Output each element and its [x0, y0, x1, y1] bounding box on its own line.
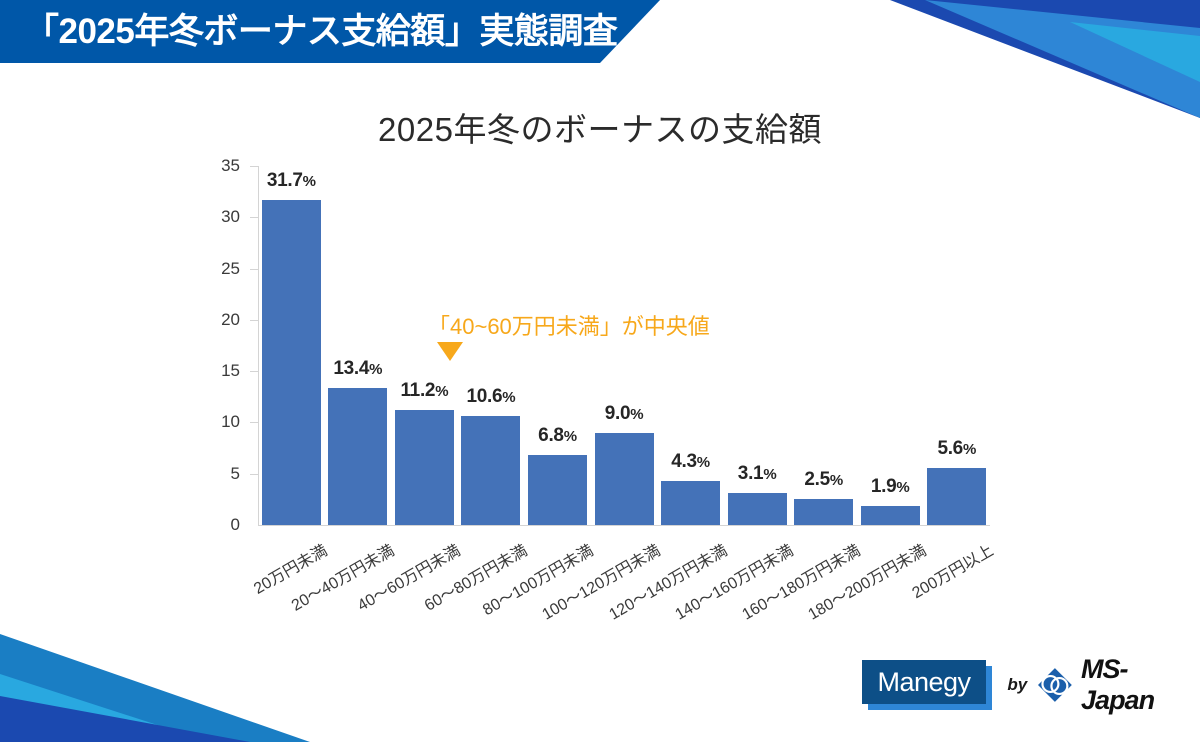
y-axis-tick-mark	[250, 217, 258, 218]
bar-value-label: 31.7%	[267, 170, 316, 192]
y-axis-tick-label: 35	[196, 156, 240, 176]
bar-value-label: 11.2%	[400, 380, 448, 402]
plot-area	[258, 166, 990, 525]
y-axis-tick-label: 30	[196, 207, 240, 227]
y-axis-tick-mark	[250, 320, 258, 321]
ms-japan-diamond-icon	[1035, 665, 1075, 705]
manegy-logo-box: Manegy	[862, 660, 986, 704]
bar[interactable]	[794, 499, 853, 525]
bar-value-label: 3.1%	[738, 463, 777, 485]
bar-value-label: 4.3%	[671, 451, 710, 473]
x-axis-line	[258, 525, 990, 526]
bar[interactable]	[528, 455, 587, 525]
y-axis-tick-mark	[250, 269, 258, 270]
bar-chart: 35302520151050 31.7%13.4%11.2%10.6%6.8%9…	[0, 0, 1200, 742]
bar-value-label: 1.9%	[871, 476, 910, 498]
infographic-page: 「2025年冬ボーナス支給額」実態調査 2025年冬のボーナスの支給額 3530…	[0, 0, 1200, 742]
y-axis-tick-label: 0	[196, 515, 240, 535]
y-axis-tick-mark	[250, 422, 258, 423]
y-axis-tick-mark	[250, 166, 258, 167]
footer-logo: Manegy by MS-Japan	[862, 660, 1200, 710]
bar-value-label: 13.4%	[333, 358, 382, 380]
bar[interactable]	[395, 410, 454, 525]
manegy-logo-text: Manegy	[877, 669, 970, 696]
median-annotation-text: 「40~60万円未満」が中央値	[428, 309, 710, 341]
bar[interactable]	[595, 433, 654, 525]
bar-value-label: 9.0%	[605, 403, 644, 425]
bar[interactable]	[927, 468, 986, 525]
y-axis-tick-label: 25	[196, 259, 240, 279]
bar-value-label: 10.6%	[466, 386, 515, 408]
y-axis-tick-labels: 35302520151050	[192, 0, 240, 742]
y-axis-tick-label: 5	[196, 464, 240, 484]
bar[interactable]	[262, 200, 321, 525]
y-axis-tick-mark	[250, 474, 258, 475]
bar[interactable]	[661, 481, 720, 525]
bar[interactable]	[328, 388, 387, 525]
bar-value-label: 5.6%	[937, 438, 976, 460]
ms-japan-logo-text: MS-Japan	[1081, 654, 1200, 716]
bar[interactable]	[861, 506, 920, 525]
y-axis-tick-label: 10	[196, 412, 240, 432]
bar[interactable]	[728, 493, 787, 525]
y-axis-tick-label: 15	[196, 361, 240, 381]
bar-value-label: 2.5%	[804, 469, 843, 491]
bar-value-label: 6.8%	[538, 425, 577, 447]
bar[interactable]	[461, 416, 520, 525]
by-label: by	[1007, 675, 1027, 695]
manegy-logo[interactable]: Manegy	[862, 660, 991, 710]
y-axis-tick-mark	[250, 371, 258, 372]
y-axis-tick-label: 20	[196, 310, 240, 330]
median-annotation-arrow-icon	[437, 342, 463, 361]
